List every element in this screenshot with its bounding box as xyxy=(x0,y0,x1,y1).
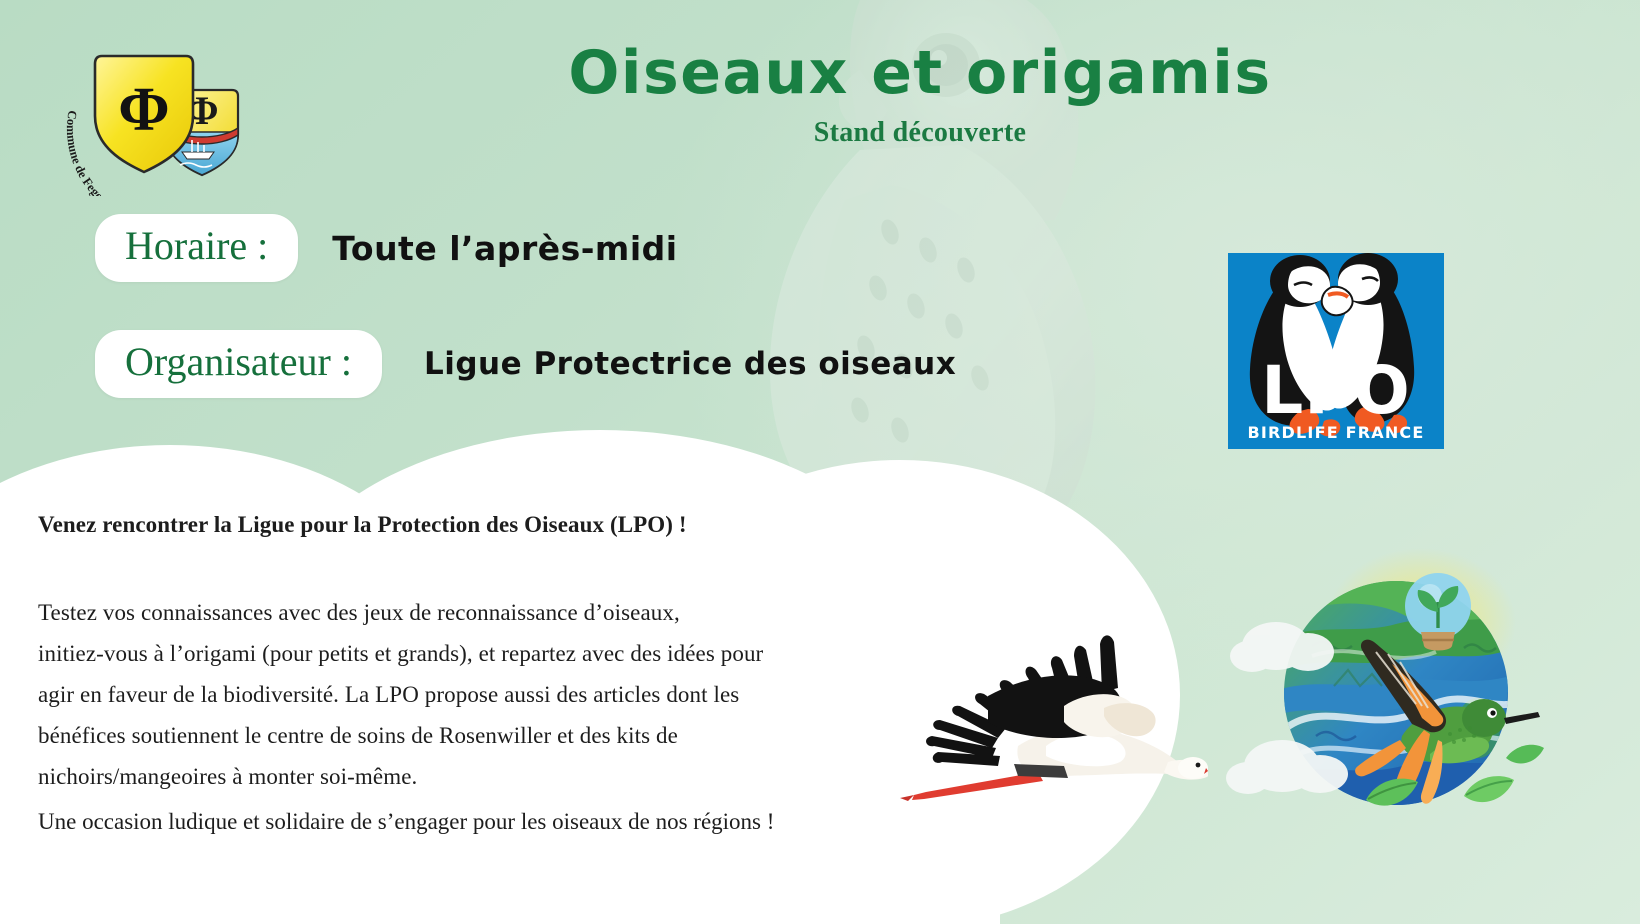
info-label-organisateur: Organisateur : xyxy=(95,330,382,398)
lpo-acronym: LPO xyxy=(1261,352,1411,429)
body-line: bénéfices soutiennent le centre de soins… xyxy=(38,715,918,756)
body-text-block: Venez rencontrer la Ligue pour la Protec… xyxy=(38,512,918,842)
info-value-organisateur: Ligue Protectrice des oiseaux xyxy=(424,346,956,382)
page-subtitle: Stand découverte xyxy=(420,117,1420,149)
body-paragraph: Testez vos connaissances avec des jeux d… xyxy=(38,592,918,797)
info-value-horaire: Toute l’après-midi xyxy=(332,229,677,268)
info-row-horaire: Horaire : Toute l’après-midi xyxy=(95,214,678,282)
page-title: Oiseaux et origamis xyxy=(420,42,1420,105)
poster-root: Φ Φ Commune de Fegersheim-Ohnheim Oiseau… xyxy=(0,0,1640,924)
shield-phi-large: Φ xyxy=(118,76,169,144)
lpo-logo: LPO BIRDLIFE FRANCE xyxy=(1228,225,1444,449)
info-row-organisateur: Organisateur : Ligue Protectrice des ois… xyxy=(95,330,956,398)
header-block: Oiseaux et origamis Stand découverte xyxy=(420,42,1420,149)
body-closing: Une occasion ludique et solidaire de s’e… xyxy=(38,801,918,842)
lpo-tagline: BIRDLIFE FRANCE xyxy=(1247,423,1424,442)
commune-logo: Φ Φ Commune de Fegersheim-Ohnheim xyxy=(62,28,282,196)
info-label-horaire: Horaire : xyxy=(95,214,298,282)
body-line: nichoirs/mangeoires à monter soi-même. xyxy=(38,756,918,797)
eco-globe-illustration xyxy=(1216,528,1546,828)
body-line: initiez-vous à l’origami (pour petits et… xyxy=(38,633,918,674)
body-line: Testez vos connaissances avec des jeux d… xyxy=(38,592,918,633)
body-lead: Venez rencontrer la Ligue pour la Protec… xyxy=(38,512,918,538)
stork-illustration xyxy=(868,596,1208,826)
body-line: agir en faveur de la biodiversité. La LP… xyxy=(38,674,918,715)
